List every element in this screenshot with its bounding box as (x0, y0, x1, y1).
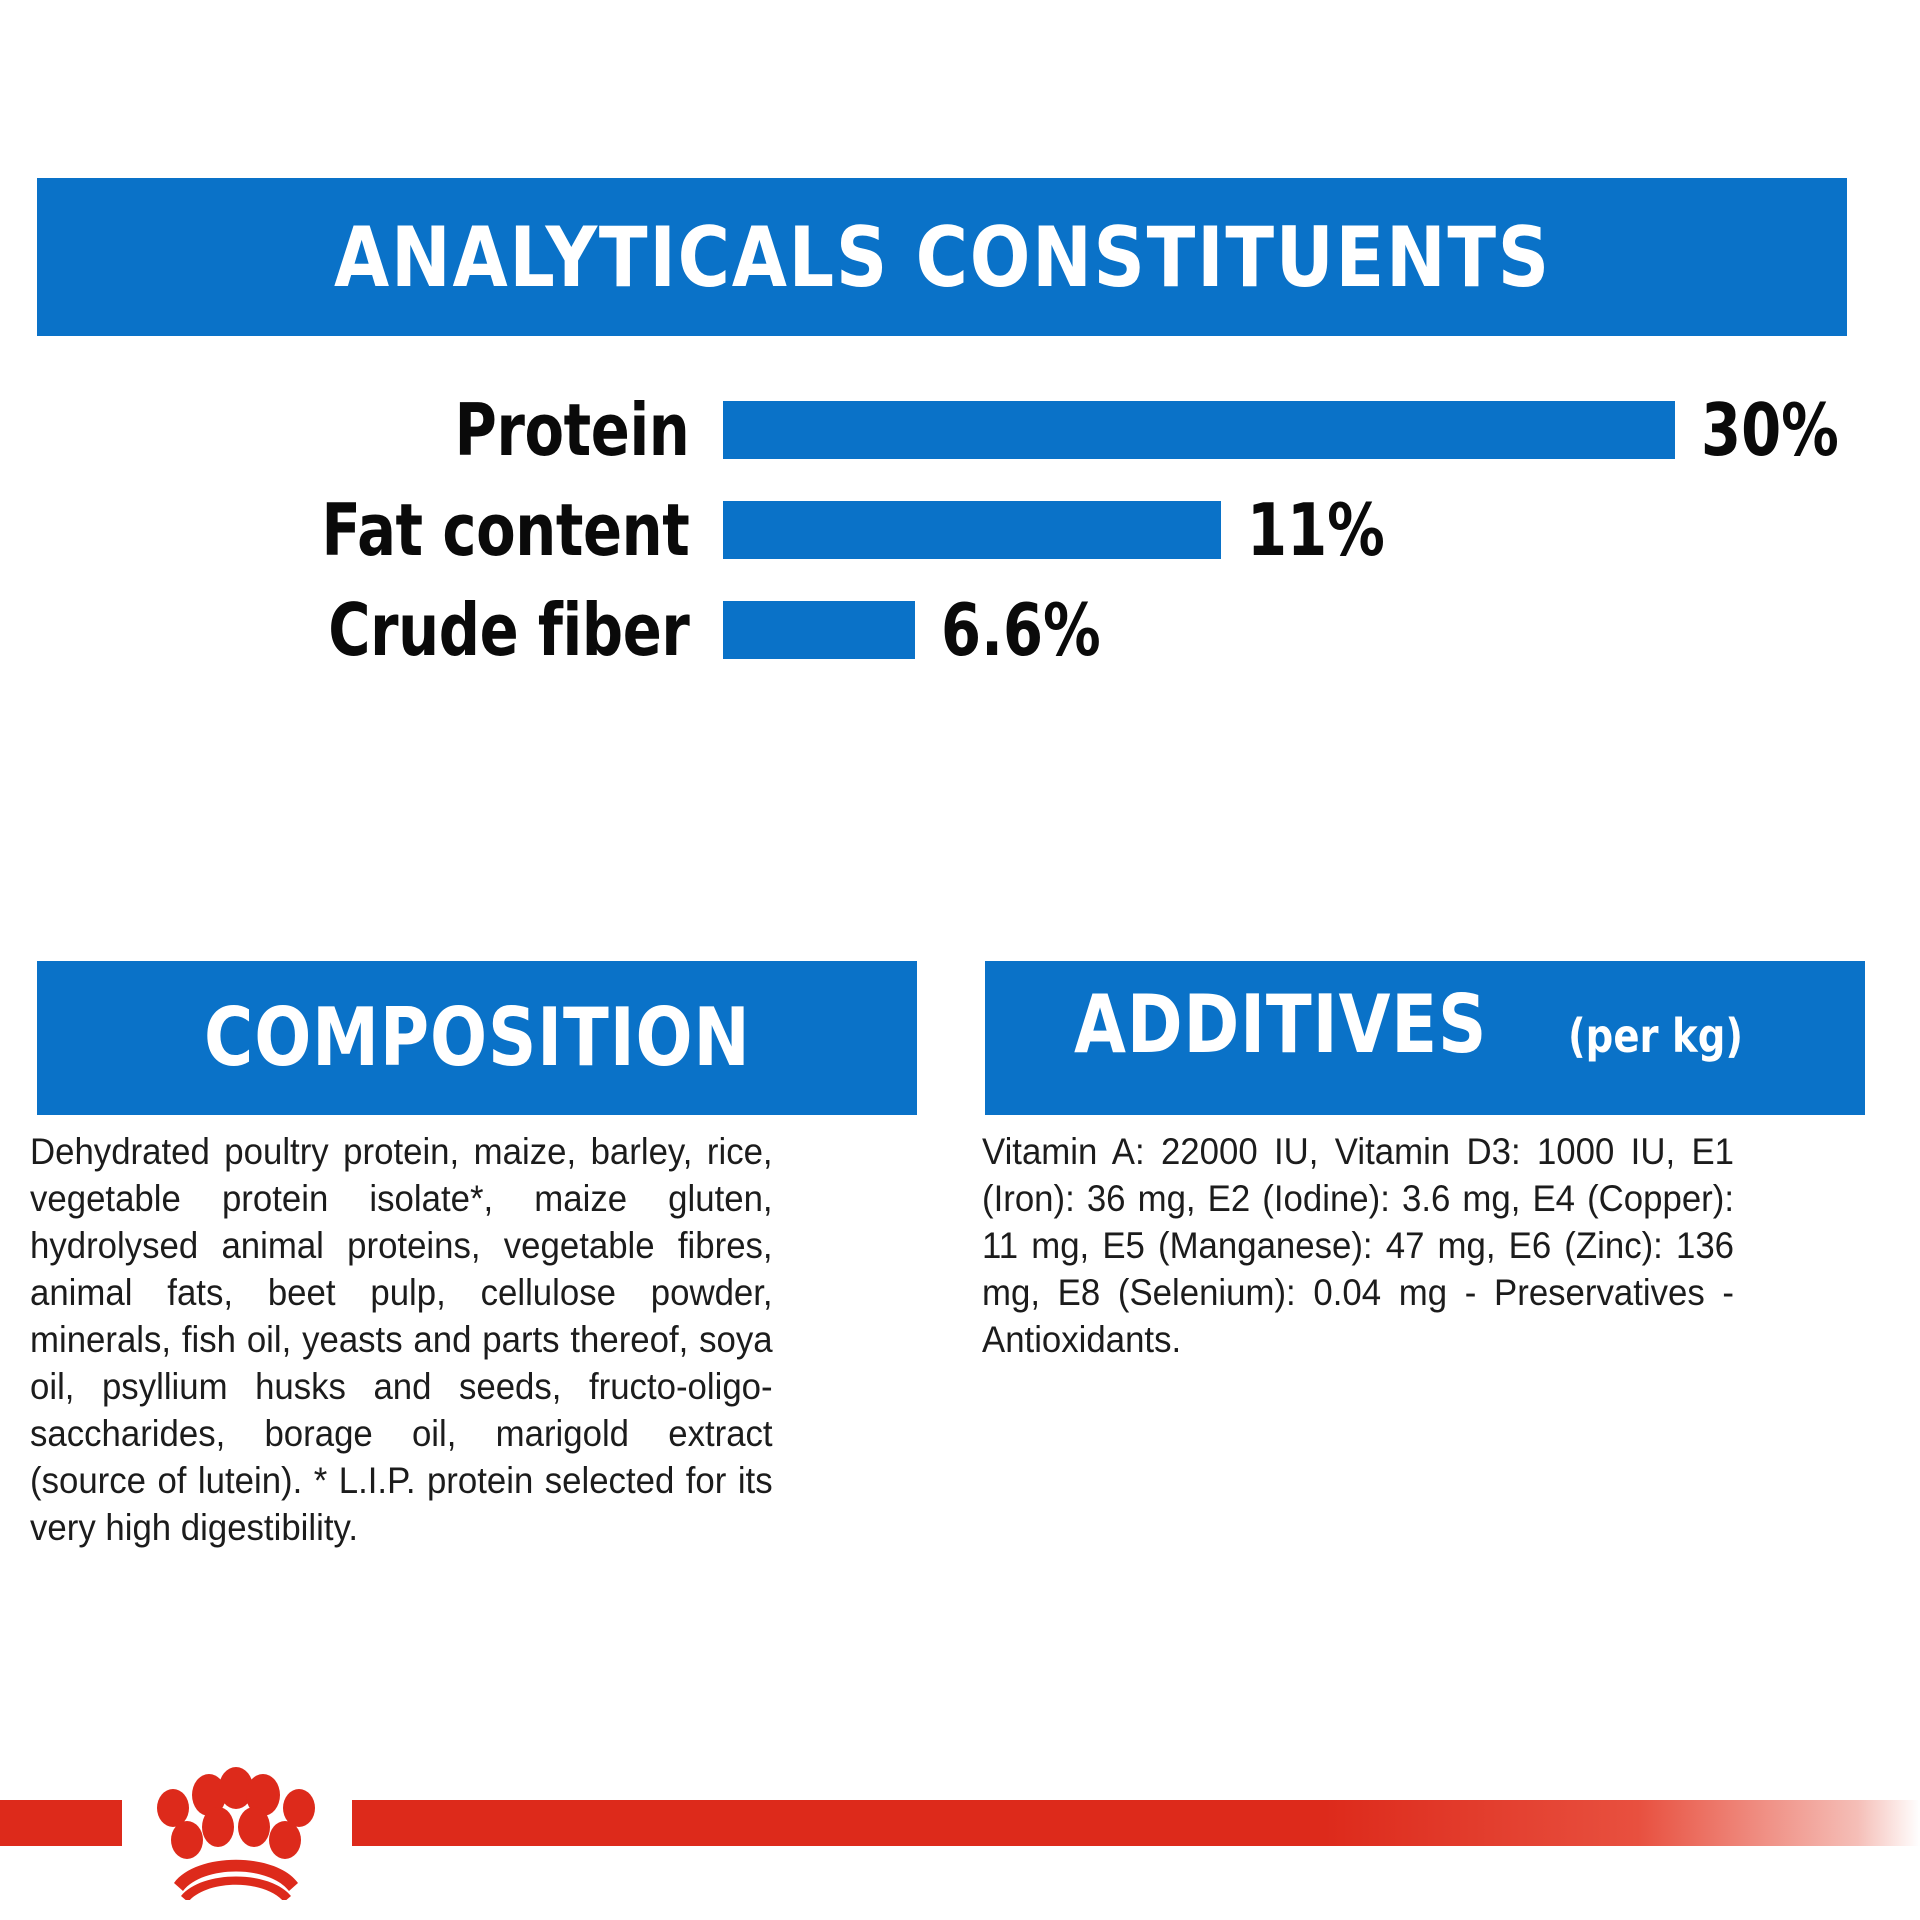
royal-canin-crown-icon (126, 1760, 346, 1900)
bar-row-crude-fiber: Crude fiber 6.6% (0, 580, 1920, 680)
additives-header: ADDITIVES (per kg) (985, 961, 1865, 1115)
footer-rule-right (352, 1800, 1920, 1846)
bar-label-fat-content: Fat content (145, 494, 723, 566)
bar-value-fat-content: 11% (1247, 494, 1385, 566)
footer-rule-left (0, 1800, 122, 1846)
analyticals-constituents-header: ANALYTICALS CONSTITUENTS (37, 178, 1847, 336)
analyticals-constituents-title: ANALYTICALS CONSTITUENTS (334, 216, 1551, 299)
bar-track-protein: 30% (723, 380, 1920, 480)
bar-fill-fat-content (723, 501, 1221, 559)
composition-header: COMPOSITION (37, 961, 917, 1115)
bar-label-crude-fiber: Crude fiber (145, 594, 723, 666)
bar-fill-protein (723, 401, 1675, 459)
bar-row-fat-content: Fat content 11% (0, 480, 1920, 580)
bar-value-crude-fiber: 6.6% (941, 594, 1101, 666)
bar-track-crude-fiber: 6.6% (723, 580, 1920, 680)
analyticals-constituents-bar-chart: Protein 30% Fat content 11% Crude fiber … (0, 380, 1920, 680)
composition-body-text: Dehydrated poultry protein, maize, barle… (30, 1128, 773, 1551)
footer (0, 1800, 1920, 1920)
bar-label-protein: Protein (145, 394, 723, 466)
bar-row-protein: Protein 30% (0, 380, 1920, 480)
bar-track-fat-content: 11% (723, 480, 1920, 580)
bar-fill-crude-fiber (723, 601, 915, 659)
additives-title: ADDITIVES (1074, 985, 1487, 1065)
bar-value-protein: 30% (1701, 394, 1839, 466)
additives-body-text: Vitamin A: 22000 IU, Vitamin D3: 1000 IU… (982, 1128, 1734, 1363)
additives-per-kg-label: (per kg) (1568, 1013, 1743, 1059)
composition-title: COMPOSITION (204, 998, 751, 1078)
